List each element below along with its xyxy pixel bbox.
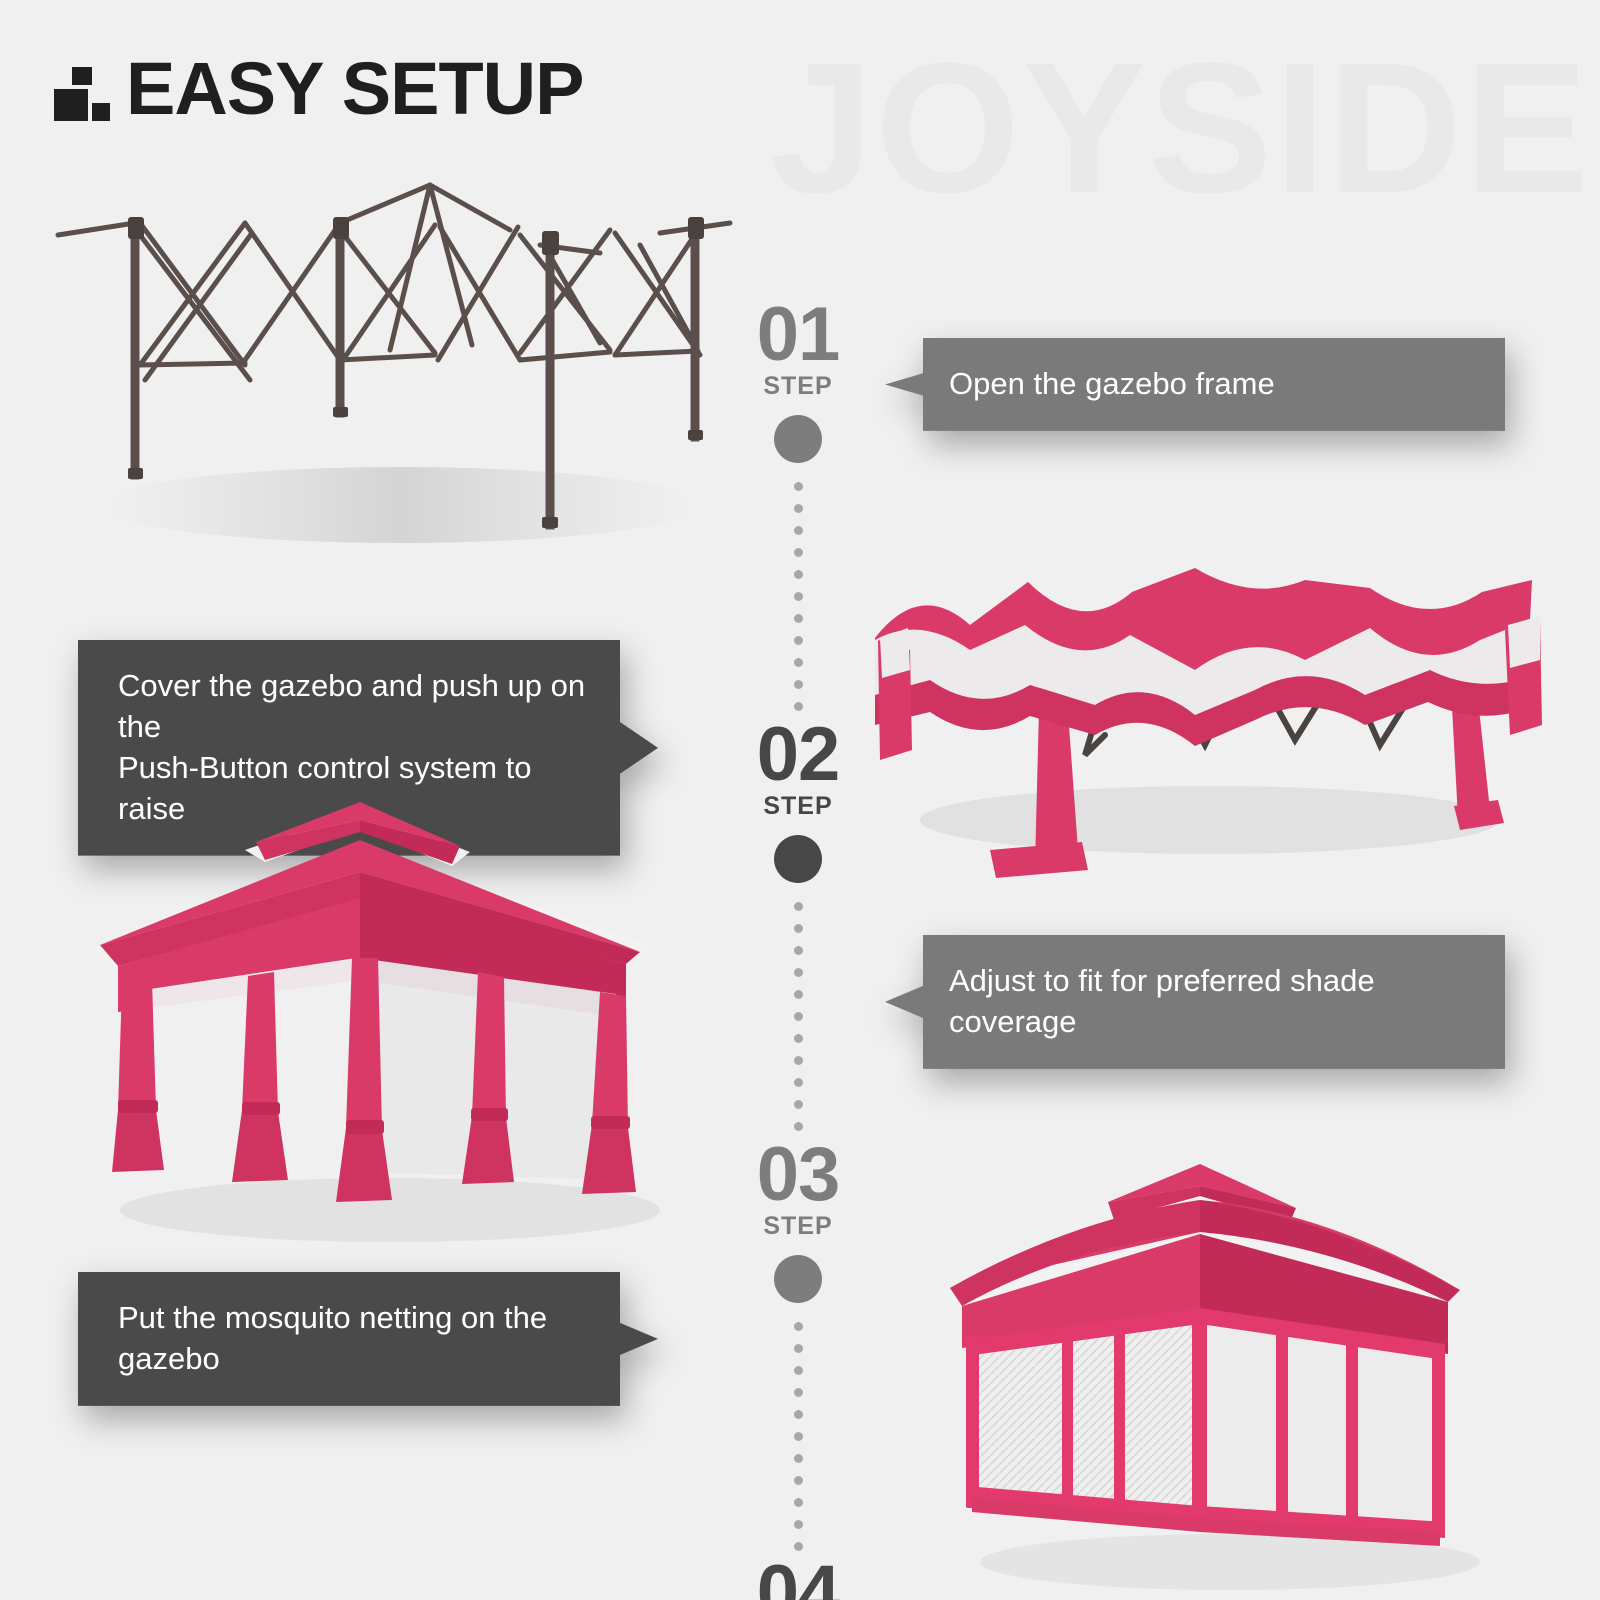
callout-step-04-text: Put the mosquito netting on the gazebo xyxy=(118,1298,594,1380)
callout-step-01: Open the gazebo frame xyxy=(885,338,1505,431)
callout-step-03: Adjust to fit for preferred shade covera… xyxy=(885,935,1505,1069)
photo-gazebo-canopy-draped xyxy=(850,520,1550,880)
timeline-dots-01-02 xyxy=(792,482,804,711)
step-number-03: 03 xyxy=(718,1140,878,1210)
photo-gazebo-frame-open xyxy=(40,175,740,575)
timeline-node-04: 04 STEP xyxy=(718,1558,878,1600)
timeline-node-01: 01 STEP xyxy=(718,300,878,463)
infographic-page: JOYSIDE EASY SETUP xyxy=(0,0,1600,1600)
step-label-03: STEP xyxy=(718,1212,878,1241)
brand-watermark: JOYSIDE xyxy=(770,36,1590,222)
photo-gazebo-erected-with-curtains xyxy=(60,780,700,1260)
callout-step-02-line1: Cover the gazebo and push up on the xyxy=(118,666,594,748)
step-label-01: STEP xyxy=(718,372,878,401)
photo-gazebo-with-mosquito-netting xyxy=(900,1150,1550,1600)
step-bullet-02 xyxy=(774,835,822,883)
step-bullet-01 xyxy=(774,415,822,463)
page-header: EASY SETUP xyxy=(54,52,583,126)
steps-timeline: 01 STEP 02 STEP 03 STEP 04 STEP xyxy=(718,300,878,1600)
timeline-node-03: 03 STEP xyxy=(718,1140,878,1303)
timeline-dots-02-03 xyxy=(792,902,804,1131)
callout-step-03-text: Adjust to fit for preferred shade covera… xyxy=(949,961,1465,1043)
timeline-dots-03-04 xyxy=(792,1322,804,1551)
step-bullet-03 xyxy=(774,1255,822,1303)
callout-step-04: Put the mosquito netting on the gazebo xyxy=(78,1272,658,1406)
callout-step-01-text: Open the gazebo frame xyxy=(949,364,1275,405)
step-number-01: 01 xyxy=(718,300,878,370)
page-title: EASY SETUP xyxy=(126,52,583,126)
three-squares-icon xyxy=(54,57,110,121)
step-number-02: 02 xyxy=(718,720,878,790)
timeline-node-02: 02 STEP xyxy=(718,720,878,883)
step-number-04: 04 xyxy=(718,1558,878,1600)
step-label-02: STEP xyxy=(718,792,878,821)
